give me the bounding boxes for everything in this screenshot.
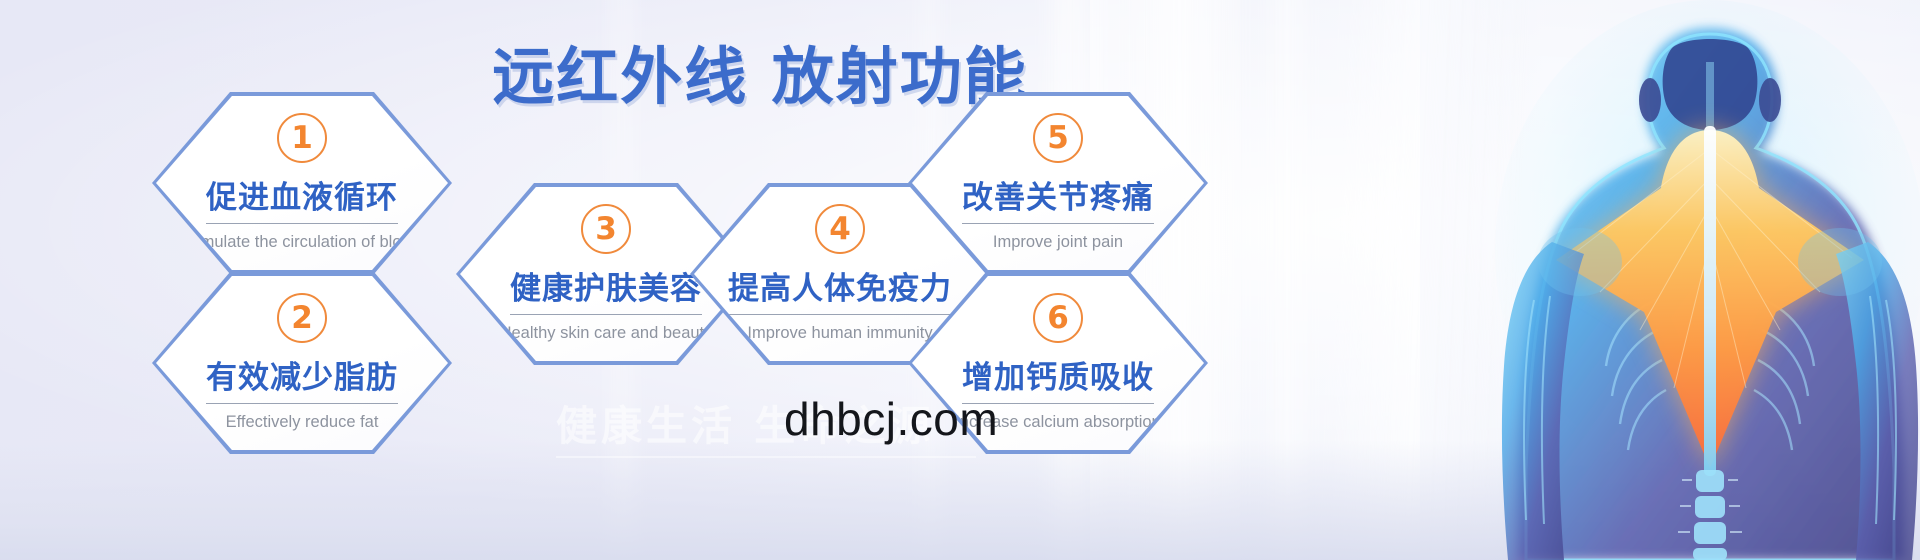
feature-card-3-title-en: Healthy skin care and beauty [500,323,713,344]
feature-card-2-title-en: Effectively reduce fat [226,412,379,433]
feature-card-1-number: 1 [277,113,327,163]
feature-card-5-number: 5 [1033,113,1083,163]
feature-card-6-number: 6 [1033,293,1083,343]
feature-card-4-number: 4 [815,204,865,254]
feature-card-1-title-en: stimulate the circulation of blood [184,232,420,253]
feature-card-3-title-cn: 健康护肤美容 [510,263,702,315]
feature-card-1-title-cn: 促进血液循环 [206,172,398,224]
feature-card-5-title-en: Improve joint pain [993,232,1123,253]
feature-card-2-title-cn: 有效减少脂肪 [206,352,398,404]
feature-card-4-title-cn: 提高人体免疫力 [728,263,952,315]
banner-stage: 远红外线 放射功能 1 促进血液循环 stimulate the circula… [0,0,1920,560]
feature-card-5-title-cn: 改善关节疼痛 [962,172,1154,224]
feature-card-2-number: 2 [277,293,327,343]
site-watermark: dhbcj.com [784,392,998,446]
feature-card-3-number: 3 [581,204,631,254]
feature-card-4-title-en: Improve human immunity [747,323,932,344]
